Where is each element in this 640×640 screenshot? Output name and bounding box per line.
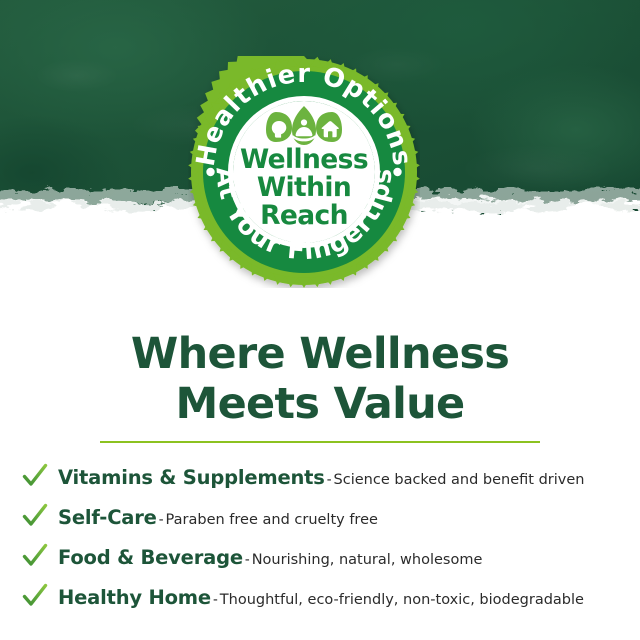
promo-poster: Healthier Options At Your Fingertips	[0, 0, 640, 640]
benefit-title: Self-Care	[58, 506, 157, 529]
benefit-description: Nourishing, natural, wholesome	[252, 552, 483, 568]
benefit-description: Science backed and benefit driven	[334, 472, 585, 488]
benefit-dash: -	[325, 472, 334, 488]
badge-separator-dot-right	[393, 168, 401, 176]
benefit-dash: -	[243, 552, 252, 568]
benefit-title: Vitamins & Supplements	[58, 466, 325, 489]
benefit-dash: -	[211, 592, 220, 608]
headline-line-2: Meets Value	[0, 380, 640, 430]
check-icon	[22, 463, 48, 489]
benefit-row-2: Food & Beverage - Nourishing, natural, w…	[22, 538, 622, 578]
benefit-row-3: Healthy Home - Thoughtful, eco-friendly,…	[22, 578, 622, 618]
benefit-title: Food & Beverage	[58, 546, 243, 569]
benefit-row-1: Self-Care - Paraben free and cruelty fre…	[22, 498, 622, 538]
badge-svg: Healthier Options At Your Fingertips	[188, 56, 420, 288]
page-title: Where Wellness Meets Value	[0, 330, 640, 430]
check-icon	[22, 543, 48, 569]
badge-wordmark-line-1: Wellness	[240, 144, 368, 175]
benefit-dash: -	[157, 512, 166, 528]
benefit-row-0: Vitamins & Supplements - Science backed …	[22, 458, 622, 498]
badge-wordmark-line-2: Within	[257, 172, 351, 203]
benefit-description: Thoughtful, eco-friendly, non-toxic, bio…	[220, 592, 584, 608]
benefits-list: Vitamins & Supplements - Science backed …	[22, 458, 622, 618]
check-icon	[22, 503, 48, 529]
wellness-badge: Healthier Options At Your Fingertips	[188, 56, 420, 288]
section-divider	[100, 441, 540, 443]
benefit-title: Healthy Home	[58, 586, 211, 609]
badge-separator-dot-left	[206, 168, 214, 176]
headline-line-1: Where Wellness	[131, 329, 509, 379]
check-icon	[22, 583, 48, 609]
benefit-description: Paraben free and cruelty free	[166, 512, 378, 528]
badge-wordmark-line-3: Reach	[260, 200, 348, 231]
